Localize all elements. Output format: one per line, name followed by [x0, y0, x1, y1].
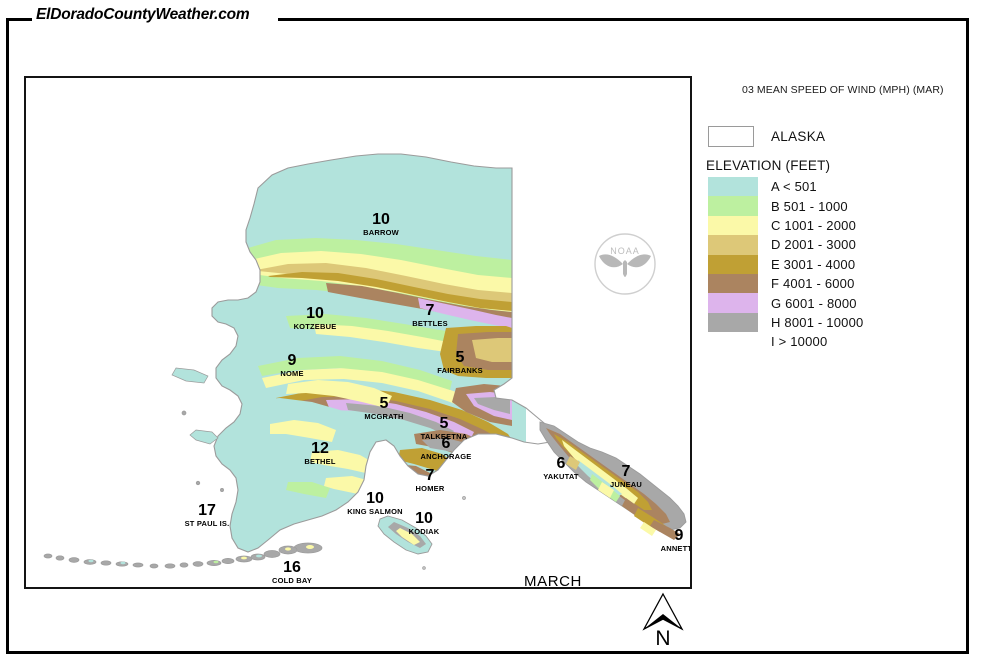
elevation-legend-row: D 2001 - 3000: [708, 235, 966, 254]
noaa-logo-icon: NOAA: [591, 230, 659, 298]
weather-map-page: ElDoradoCountyWeather.com: [0, 0, 981, 662]
elevation-legend-row: F 4001 - 6000: [708, 274, 966, 293]
elevation-swatch-c: [708, 216, 758, 235]
elevation-legend-label: D 2001 - 3000: [771, 237, 856, 252]
map-frame: NOAA 10BARROW10KOTZEBUE7BETTLES9NOME5FAI…: [24, 76, 692, 589]
elevation-header: ELEVATION (FEET): [706, 158, 830, 173]
mainland-terrain: [206, 148, 526, 568]
map-caption: MARCH MEAN WIND SPEED: [477, 573, 629, 587]
elevation-legend-row: E 3001 - 4000: [708, 255, 966, 274]
aleutian-islands: [44, 543, 322, 568]
kodiak-island: [378, 516, 432, 554]
elevation-legend-row: I > 10000: [708, 332, 966, 351]
legend-area-row: ALASKA: [708, 126, 825, 147]
elevation-legend-label: B 501 - 1000: [771, 199, 848, 214]
elevation-legend-label: F 4001 - 6000: [771, 276, 855, 291]
elevation-legend-label: E 3001 - 4000: [771, 257, 855, 272]
elevation-legend-row: B 501 - 1000: [708, 196, 966, 215]
map-caption-month: MARCH: [477, 573, 629, 587]
alaska-label: ALASKA: [771, 129, 825, 144]
elevation-legend-label: I > 10000: [771, 334, 827, 349]
elevation-legend-label: G 6001 - 8000: [771, 296, 857, 311]
elevation-swatch-e: [708, 255, 758, 274]
alaska-elevation-map: [26, 78, 690, 587]
elevation-legend-row: H 8001 - 10000: [708, 313, 966, 332]
elevation-swatch-h: [708, 313, 758, 332]
southeast-panhandle: [540, 422, 686, 540]
legend-title: 03 MEAN SPEED OF WIND (MPH) (MAR): [742, 84, 944, 96]
compass-north-label: N: [638, 628, 688, 649]
north-arrow-icon: [638, 592, 688, 632]
elevation-legend-label: A < 501: [771, 179, 817, 194]
elevation-legend-label: H 8001 - 10000: [771, 315, 863, 330]
svg-text:NOAA: NOAA: [610, 246, 640, 256]
compass-rose: N: [638, 592, 688, 658]
elevation-swatch-b: [708, 196, 758, 215]
elevation-swatch-d: [708, 235, 758, 254]
site-title: ElDoradoCountyWeather.com: [36, 6, 249, 24]
elevation-swatch-a: [708, 177, 758, 196]
elevation-legend-row: C 1001 - 2000: [708, 216, 966, 235]
elevation-swatch-i: [708, 332, 758, 351]
elevation-legend-row: A < 501: [708, 177, 966, 196]
elevation-legend-row: G 6001 - 8000: [708, 293, 966, 312]
elevation-swatch-f: [708, 274, 758, 293]
alaska-swatch: [708, 126, 754, 147]
elevation-legend-label: C 1001 - 2000: [771, 218, 856, 233]
elevation-swatch-g: [708, 293, 758, 312]
elevation-legend-list: A < 501B 501 - 1000C 1001 - 2000D 2001 -…: [708, 177, 966, 352]
map-canvas: NOAA 10BARROW10KOTZEBUE7BETTLES9NOME5FAI…: [26, 78, 690, 587]
